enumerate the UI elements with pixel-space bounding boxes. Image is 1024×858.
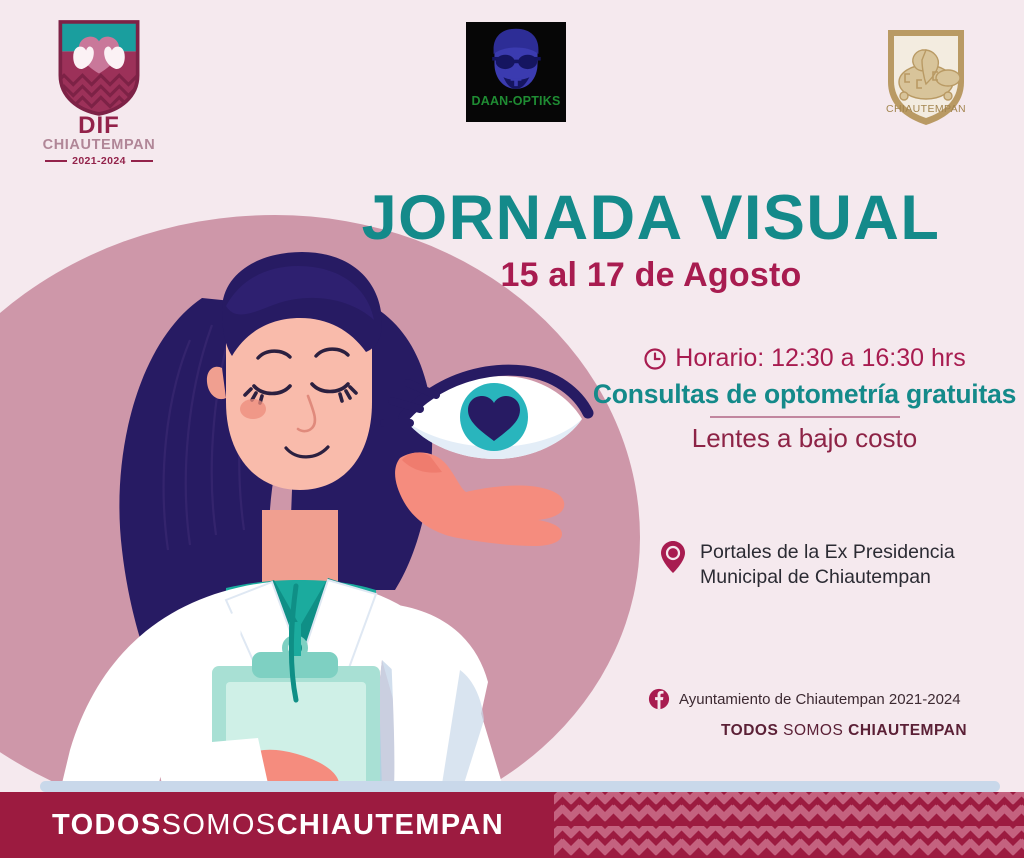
low-cost-text: Lentes a bajo costo xyxy=(585,424,1024,454)
facebook-page-name: Ayuntamiento de Chiautempan 2021-2024 xyxy=(679,691,961,708)
dif-logo: DIF CHIAUTEMPAN 2021-2024 xyxy=(38,18,160,167)
poster-dates: 15 al 17 de Agosto xyxy=(0,256,1024,295)
dif-title: DIF xyxy=(38,113,160,138)
daan-optiks-logo: DAAN-OPTIKS xyxy=(466,22,566,122)
facebook-icon[interactable] xyxy=(648,688,670,710)
dif-subtitle: CHIAUTEMPAN xyxy=(38,138,160,153)
daan-face-icon xyxy=(480,26,552,96)
banner-slogan: TODOS SOMOS CHIAUTEMPAN xyxy=(52,792,504,858)
banner-slogan-bold-1: TODOS xyxy=(52,809,162,842)
schedule-row: Horario: 12:30 a 16:30 hrs xyxy=(585,345,1024,373)
bottom-banner: TODOS SOMOS CHIAUTEMPAN xyxy=(0,792,1024,858)
dif-years: 2021-2024 xyxy=(38,155,160,167)
chiautempan-shield-icon: CHIAUTEMPAN xyxy=(870,20,982,132)
banner-slogan-bold-2: CHIAUTEMPAN xyxy=(277,809,505,842)
poster-title: JORNADA VISUAL xyxy=(0,186,1024,250)
chiautempan-shield-logo: CHIAUTEMPAN xyxy=(870,20,982,137)
desk-line xyxy=(40,781,1000,792)
info-divider xyxy=(710,416,900,418)
address-line-2: Municipal de Chiautempan xyxy=(700,565,955,590)
info-block: Horario: 12:30 a 16:30 hrs Consultas de … xyxy=(585,345,1024,454)
clock-icon xyxy=(643,347,667,371)
social-slogan-bold-1: TODOS xyxy=(721,722,778,739)
address-block: Portales de la Ex Presidencia Municipal … xyxy=(660,540,1024,590)
poster-root: DIF CHIAUTEMPAN 2021-2024 xyxy=(0,0,1024,858)
svg-text:CHIAUTEMPAN: CHIAUTEMPAN xyxy=(886,103,966,115)
headline-block: JORNADA VISUAL 15 al 17 de Agosto xyxy=(0,186,1024,295)
herringbone-pattern xyxy=(554,792,1024,858)
free-consults-text: Consultas de optometría gratuitas xyxy=(585,379,1024,409)
social-slogan-bold-2: CHIAUTEMPAN xyxy=(848,722,967,739)
social-slogan-normal: SOMOS xyxy=(778,722,848,739)
daan-optiks-label: DAAN-OPTIKS xyxy=(471,94,560,108)
social-block: Ayuntamiento de Chiautempan 2021-2024 TO… xyxy=(648,688,1024,740)
schedule-text: Horario: 12:30 a 16:30 hrs xyxy=(675,345,965,373)
location-pin-icon xyxy=(660,540,686,574)
address-text: Portales de la Ex Presidencia Municipal … xyxy=(700,540,955,590)
facebook-row[interactable]: Ayuntamiento de Chiautempan 2021-2024 xyxy=(648,688,1024,710)
banner-slogan-normal: SOMOS xyxy=(162,809,277,842)
address-line-1: Portales de la Ex Presidencia xyxy=(700,540,955,565)
logo-row: DIF CHIAUTEMPAN 2021-2024 xyxy=(0,0,1024,175)
social-slogan: TODOS SOMOS CHIAUTEMPAN xyxy=(648,722,1024,740)
dif-shield-icon xyxy=(53,18,145,110)
heart-eye-icon xyxy=(378,355,598,475)
